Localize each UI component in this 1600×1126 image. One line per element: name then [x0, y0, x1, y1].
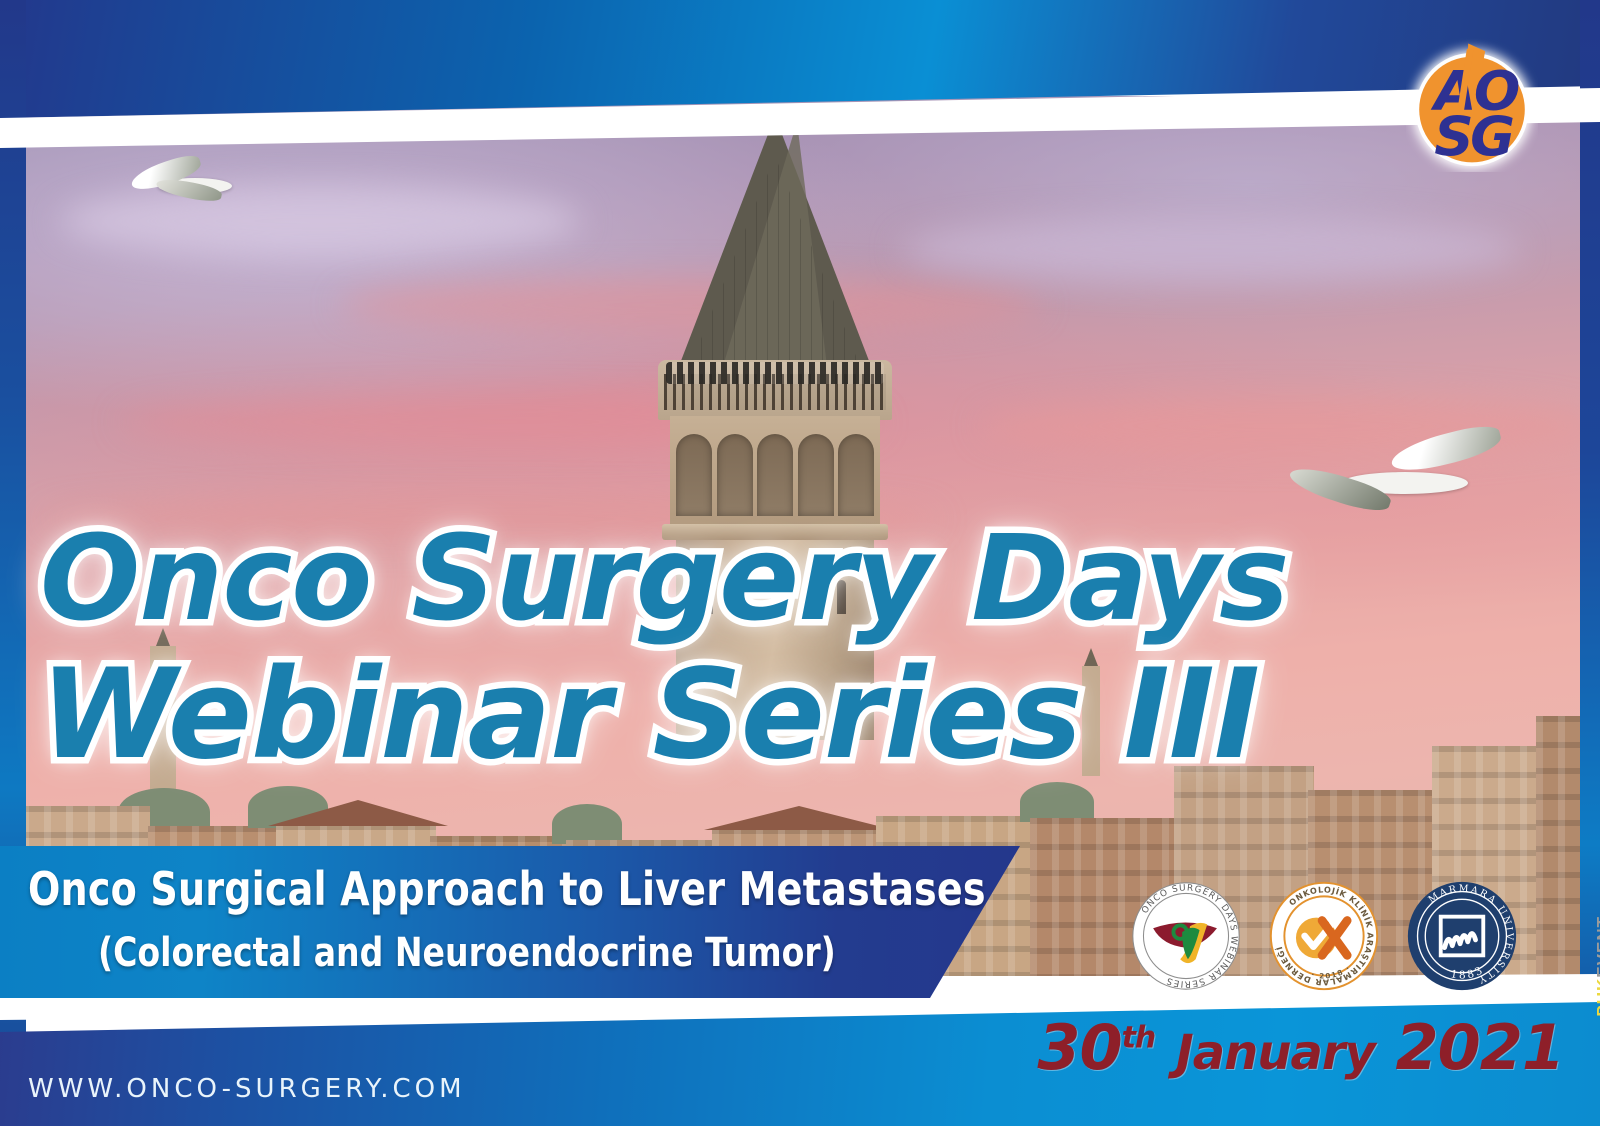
pukevent-primary: PUK [1594, 978, 1600, 1017]
dome [1020, 782, 1094, 822]
event-date-day: 30 [1037, 1011, 1121, 1084]
title-line-2: Webinar Series III [40, 652, 1360, 778]
event-date-year: 2021 [1395, 1011, 1564, 1084]
cloud [900, 216, 1520, 282]
tower-arched-windows [676, 434, 874, 516]
event-date: 30th January 2021 [1037, 1011, 1564, 1084]
webinar-poster: Onco Surgery Days Webinar Series III Onc… [0, 0, 1600, 1126]
event-date-month: January [1176, 1025, 1375, 1081]
website-url[interactable]: WWW.ONCO-SURGERY.COM [28, 1074, 466, 1104]
aosg-letter-g: G [1470, 104, 1515, 168]
title-line-1: Onco Surgery Days [40, 518, 1360, 638]
onco-surgery-days-webinar-series-logo: ONCO SURGERY DAYS WEBINAR SERIES [1128, 878, 1244, 999]
dome [552, 804, 622, 844]
event-date-ordinal: th [1122, 1020, 1156, 1055]
tower-visitors [666, 362, 884, 384]
subtitle-line-1: Onco Surgical Approach to Liver Metastas… [28, 862, 941, 916]
seagull [1278, 432, 1508, 524]
marmara-university-logo: MARMARA UNIVERSITY 1883 [1404, 878, 1520, 999]
partner-logos: ONCO SURGERY DAYS WEBINAR SERIES ONKOLOJ… [1128, 868, 1548, 1008]
aosg-logo: A O S G [1406, 32, 1538, 172]
subtitle-line-2: (Colorectal and Neuroendocrine Tumor) [98, 930, 946, 976]
aosg-letter-s: S [1434, 104, 1473, 168]
seagull [112, 156, 252, 216]
onkolojik-klinik-arastirmalar-dernegi-logo: ONKOLOJİK KLİNİK ARAŞTIRMALAR DERNEĞİ · … [1266, 878, 1382, 999]
roof [704, 806, 894, 830]
subtitle-band: Onco Surgical Approach to Liver Metastas… [0, 846, 1020, 998]
pukevent-secondary: EVENT [1594, 916, 1600, 978]
pukevent-logo: PUKEVENT ORGANIZASYON [1594, 916, 1600, 1017]
page-title: Onco Surgery Days Webinar Series III [40, 518, 1360, 779]
